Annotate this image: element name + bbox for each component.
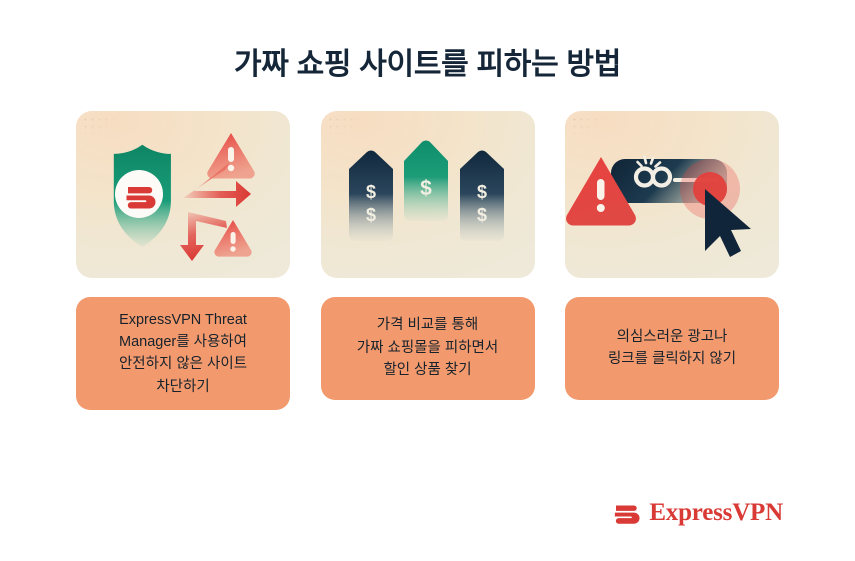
expressvpn-logo-mark <box>115 170 163 218</box>
caption-text-2: 가격 비교를 통해 가짜 쇼핑몰을 피하면서 할인 상품 찾기 <box>357 314 498 381</box>
svg-text:$: $ <box>365 205 375 225</box>
caption-text-3: 의심스러운 광고나 링크를 클릭하지 않기 <box>608 326 736 371</box>
illustration-suspicious-link-click <box>565 111 779 278</box>
illustration-price-comparison-tags: $ $ $ $ $ <box>321 111 535 278</box>
brand-name: ExpressVPN <box>649 499 783 527</box>
card-2: $ $ $ $ $ 가격 비교를 <box>321 111 535 411</box>
svg-text:$: $ <box>476 182 486 202</box>
cards-row: ExpressVPN Threat Manager를 사용하여 안전하지 않은 … <box>0 111 855 411</box>
svg-text:$: $ <box>476 205 486 225</box>
svg-text:$: $ <box>365 182 375 202</box>
card-1: ExpressVPN Threat Manager를 사용하여 안전하지 않은 … <box>76 111 290 411</box>
caption-card-2: 가격 비교를 통해 가짜 쇼핑몰을 피하면서 할인 상품 찾기 <box>321 297 535 400</box>
caption-text-1: ExpressVPN Threat Manager를 사용하여 안전하지 않은 … <box>119 309 247 399</box>
warning-triangle-top <box>207 133 254 179</box>
expressvpn-e-mark-icon <box>610 498 640 528</box>
card-3: 의심스러운 광고나 링크를 클릭하지 않기 <box>565 111 779 411</box>
svg-text:$: $ <box>420 177 432 200</box>
price-tag-left-dark: $ $ <box>349 150 393 241</box>
caption-card-1: ExpressVPN Threat Manager를 사용하여 안전하지 않은 … <box>76 297 290 411</box>
brand-logo: ExpressVPN <box>610 498 783 528</box>
infographic-root: 가짜 쇼핑 사이트를 피하는 방법 <box>0 0 855 561</box>
caption-card-3: 의심스러운 광고나 링크를 클릭하지 않기 <box>565 297 779 400</box>
price-tag-middle-green: $ <box>404 140 448 221</box>
page-title: 가짜 쇼핑 사이트를 피하는 방법 <box>0 46 855 84</box>
price-tag-right-dark: $ $ <box>460 150 504 241</box>
title-area: 가짜 쇼핑 사이트를 피하는 방법 <box>0 0 855 84</box>
illustration-shield-blocking-threats <box>76 111 290 278</box>
